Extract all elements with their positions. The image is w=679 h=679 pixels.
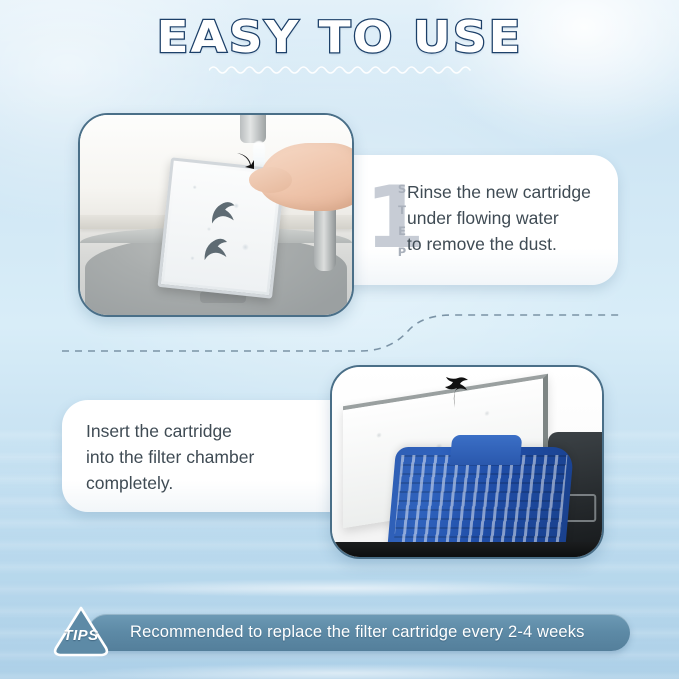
step-1-text: Rinse the new cartridge under flowing wa…: [407, 179, 591, 257]
ripple-highlight-lower: [0, 660, 679, 679]
page-title: EASY TO USE: [157, 16, 523, 60]
chamber-center-tab: [449, 435, 522, 465]
step-2-text: Insert the cartridge into the filter cha…: [86, 418, 254, 496]
thumb: [249, 167, 293, 193]
wavy-divider-icon: [209, 62, 471, 76]
tips-badge-label: TIPS: [52, 604, 110, 660]
step-1-photo: [78, 113, 354, 317]
infographic-root: EASY TO USE 1 S T E P Rinse the new cart…: [0, 0, 679, 679]
pointer-arrow-icon: [235, 151, 255, 173]
tips-message: Recommended to replace the filter cartri…: [130, 614, 616, 651]
faucet-spout: [240, 113, 266, 143]
page-title-block: EASY TO USE: [0, 16, 679, 60]
tips-bar: Recommended to replace the filter cartri…: [88, 614, 630, 651]
ripple-highlight-upper: [0, 575, 679, 601]
whale-silhouette-icon: [435, 375, 475, 409]
scene-floor-shadow: [332, 542, 602, 557]
step-2-photo: [330, 365, 604, 559]
tips-badge: TIPS: [52, 604, 110, 660]
